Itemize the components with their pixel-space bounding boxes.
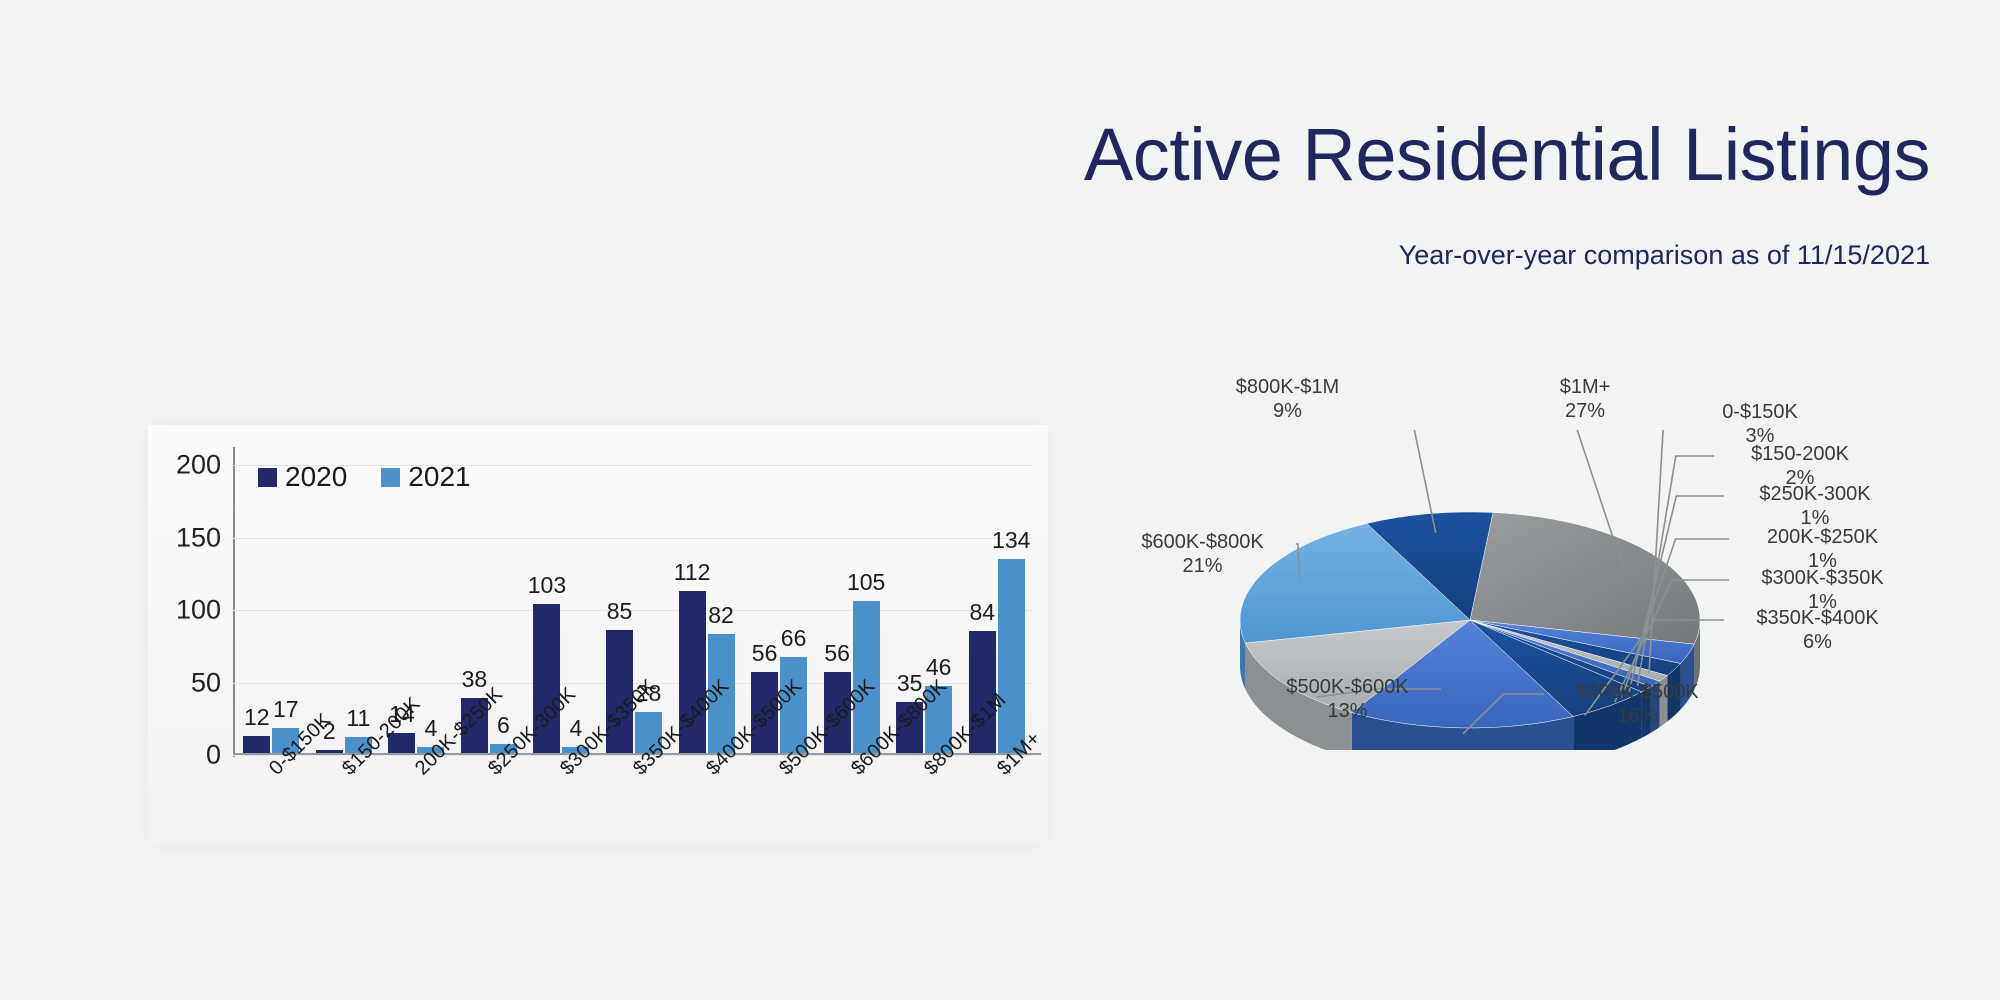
x-label-cell: $400K-$500K (671, 760, 744, 770)
pie-callout-percent: 21% (1115, 554, 1290, 578)
bar-value-label: 6 (497, 712, 510, 739)
bar-value-label: 134 (992, 527, 1030, 554)
bar-value-label: 103 (528, 572, 566, 599)
page-title: Active Residential Listings (1084, 118, 1930, 192)
x-label-cell: $150-200K (308, 760, 381, 770)
pie-callout-name: $350K-$400K (1730, 606, 1905, 630)
page-subtitle: Year-over-year comparison as of 11/15/20… (1399, 240, 1930, 271)
y-axis-tick: 0 (206, 740, 221, 771)
pie-callout: $350K-$400K6% (1730, 606, 1905, 655)
x-label-cell: $800K-$1M (890, 760, 963, 770)
y-axis-tick: 100 (176, 595, 221, 626)
pie-callout-percent: 9% (1205, 399, 1370, 423)
pie-callout-name: $800K-$1M (1205, 375, 1370, 399)
bar-group: 1217 (235, 465, 308, 753)
pie-callout-name: $500K-$600K (1260, 675, 1435, 699)
x-label-cell: 0-$150K (235, 760, 308, 770)
bar-value-label: 66 (781, 625, 807, 652)
pie-callout-percent: 13% (1260, 699, 1435, 723)
bar-value-label: 112 (674, 559, 711, 586)
bar-value-label: 56 (752, 640, 778, 667)
x-label-cell: $300K-$350K (526, 760, 599, 770)
pie-callout: $800K-$1M9% (1205, 375, 1370, 424)
pie-callout: $1M+27% (1510, 375, 1660, 424)
bar-y2020[interactable]: 2 (316, 750, 343, 753)
bar-value-label: 105 (847, 569, 885, 596)
pie-callout-percent: 16% (1550, 704, 1725, 728)
pie-chart-panel: $1M+27%0-$150K3%$150-200K2%$250K-300K1%2… (1130, 430, 1970, 750)
bar-value-label: 85 (607, 598, 633, 625)
bar-y2021[interactable]: 134 (998, 559, 1025, 753)
pie-callout-percent: 6% (1730, 630, 1905, 654)
bar-chart-panel: 2020 2021 121721114438610348528112825666… (148, 425, 1048, 845)
pie-callout-name: $1M+ (1510, 375, 1660, 399)
bar-value-label: 17 (273, 696, 299, 723)
y-axis-tick: 200 (176, 450, 221, 481)
bar-value-label: 82 (708, 602, 734, 629)
pie-callout: $250K-300K1% (1730, 482, 1900, 531)
pie-callout-name: $600K-$800K (1115, 530, 1290, 554)
pie-callout-name: 0-$150K (1685, 400, 1835, 424)
bar-value-label: 56 (824, 640, 850, 667)
pie-callout-name: $150-200K (1720, 442, 1880, 466)
y-axis-tick: 50 (191, 667, 221, 698)
x-axis-labels: 0-$150K$150-200K200K-$250K$250K-300K$300… (235, 760, 1035, 770)
x-label-cell: $350K-$400K (599, 760, 672, 770)
pie-callout: $400K-$500K16% (1550, 680, 1725, 729)
pie-callout-percent: 27% (1510, 399, 1660, 423)
pie-callout-name: $400K-$500K (1550, 680, 1725, 704)
x-label-cell: $1M+ (962, 760, 1035, 770)
x-label-cell: $600K-$800K (817, 760, 890, 770)
infographic-canvas: Active Residential Listings Year-over-ye… (0, 0, 2000, 1000)
bar-value-label: 12 (244, 704, 270, 731)
pie-callout-name: $250K-300K (1730, 482, 1900, 506)
pie-callout: $500K-$600K13% (1260, 675, 1435, 724)
bar-y2020[interactable]: 12 (243, 736, 270, 753)
x-label-cell: $250K-300K (453, 760, 526, 770)
pie-callout-name: 200K-$250K (1735, 525, 1910, 549)
bar-value-label: 38 (462, 666, 488, 693)
x-label-cell: $500K-$600K (744, 760, 817, 770)
pie-callout-name: $300K-$350K (1735, 566, 1910, 590)
bar-value-label: 11 (346, 705, 370, 732)
y-axis-tick: 150 (176, 522, 221, 553)
bar-value-label: 84 (969, 599, 995, 626)
pie-callout: $600K-$800K21% (1115, 530, 1290, 579)
x-label-cell: 200K-$250K (380, 760, 453, 770)
